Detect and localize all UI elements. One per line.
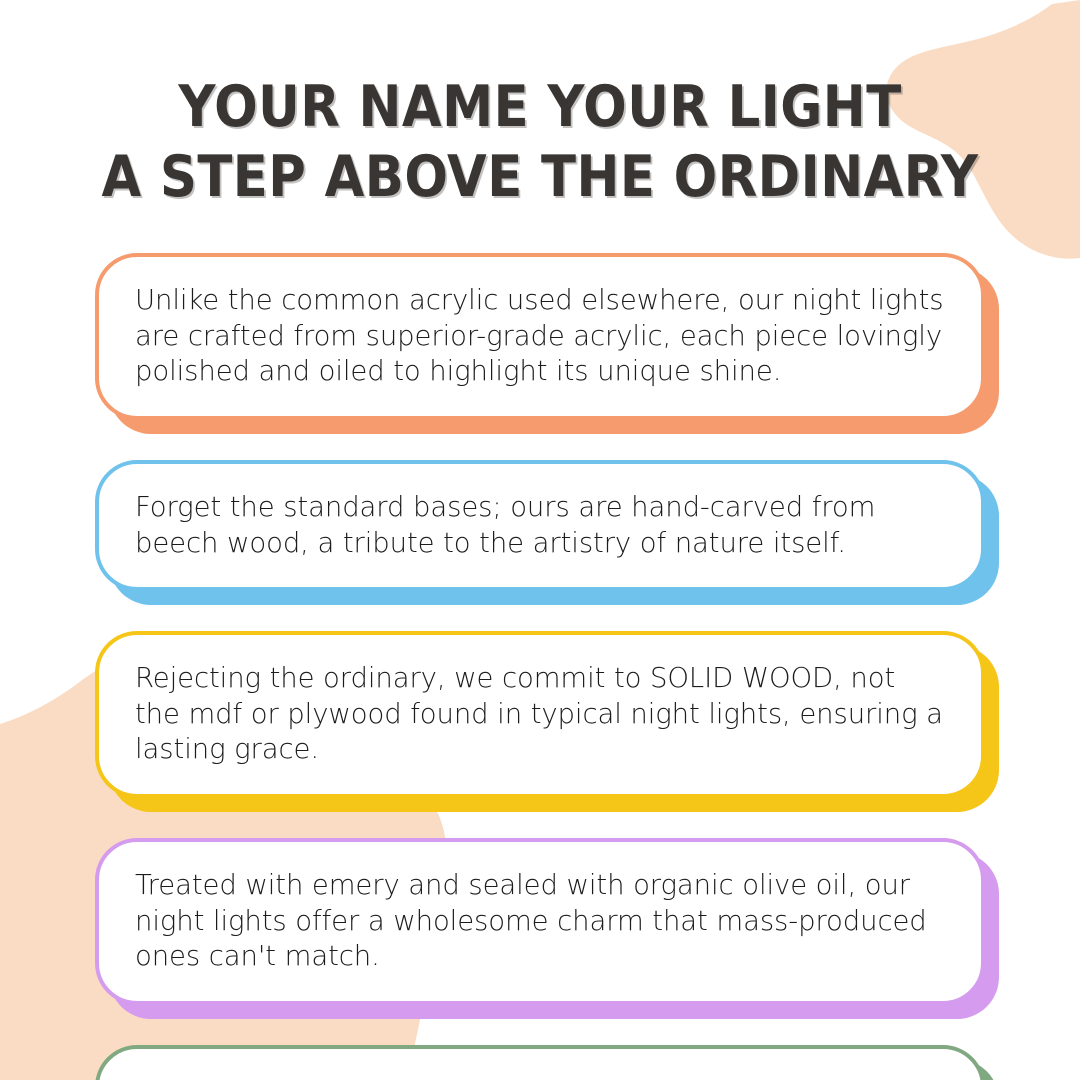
poster-title: YOUR NAME YOUR LIGHT A STEP ABOVE THE OR… — [0, 72, 1080, 212]
feature-card-list: Unlike the common acrylic used elsewhere… — [0, 253, 1080, 1080]
poster-canvas: YOUR NAME YOUR LIGHT A STEP ABOVE THE OR… — [0, 0, 1080, 1080]
feature-card-olive-oil: Treated with emery and sealed with organ… — [95, 838, 985, 1005]
card-body: Unlike the common acrylic used elsewhere… — [95, 253, 985, 420]
card-text: Forget the standard bases; ours are hand… — [135, 490, 947, 561]
card-text: Rejecting the ordinary, we commit to SOL… — [135, 661, 947, 768]
feature-card-solid-wood: Rejecting the ordinary, we commit to SOL… — [95, 631, 985, 798]
card-text: Unlike the common acrylic used elsewhere… — [135, 283, 947, 390]
card-text: Designed with your child's safety in min… — [135, 1075, 947, 1080]
feature-card-child-safety: Designed with your child's safety in min… — [95, 1045, 985, 1080]
title-line-1: YOUR NAME YOUR LIGHT — [54, 72, 1026, 142]
card-body: Designed with your child's safety in min… — [95, 1045, 985, 1080]
card-body: Forget the standard bases; ours are hand… — [95, 460, 985, 591]
title-line-2: A STEP ABOVE THE ORDINARY — [54, 142, 1026, 212]
card-text: Treated with emery and sealed with organ… — [135, 868, 947, 975]
card-body: Treated with emery and sealed with organ… — [95, 838, 985, 1005]
card-body: Rejecting the ordinary, we commit to SOL… — [95, 631, 985, 798]
feature-card-acrylic: Unlike the common acrylic used elsewhere… — [95, 253, 985, 420]
feature-card-beech-wood: Forget the standard bases; ours are hand… — [95, 460, 985, 591]
